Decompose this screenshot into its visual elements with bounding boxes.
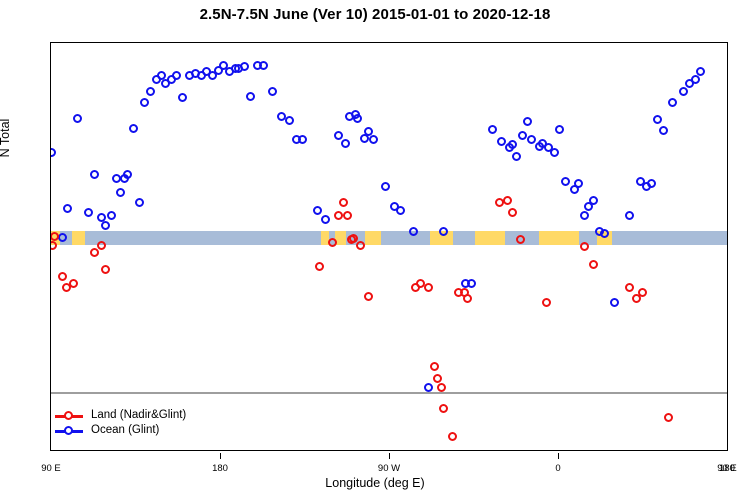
data-point-land xyxy=(430,362,439,371)
band-segment xyxy=(72,231,85,245)
data-point-land xyxy=(97,241,106,250)
data-point-ocean xyxy=(696,67,705,76)
band-segment xyxy=(453,231,476,245)
y-axis-label: N Total xyxy=(0,78,12,198)
x-tick-label: 90 E xyxy=(41,463,61,474)
data-point-land xyxy=(448,432,457,441)
chart-title: 2.5N-7.5N June (Ver 10) 2015-01-01 to 20… xyxy=(0,6,750,23)
data-point-land xyxy=(343,211,352,220)
data-point-ocean xyxy=(51,148,56,157)
data-point-ocean xyxy=(140,98,149,107)
reference-line xyxy=(51,392,727,394)
data-point-land xyxy=(315,262,324,271)
data-point-ocean xyxy=(691,75,700,84)
x-tick-label: 90 W xyxy=(378,463,400,474)
data-point-ocean xyxy=(512,152,521,161)
land-marker-icon xyxy=(55,415,83,418)
data-point-ocean xyxy=(659,126,668,135)
x-axis-label: Longitude (deg E) xyxy=(0,476,750,490)
band-segment xyxy=(365,231,382,245)
data-point-ocean xyxy=(610,298,619,307)
data-point-ocean xyxy=(550,148,559,157)
data-point-ocean xyxy=(488,125,497,134)
data-point-ocean xyxy=(409,227,418,236)
data-point-ocean xyxy=(129,124,138,133)
data-point-ocean xyxy=(63,204,72,213)
data-point-land xyxy=(101,265,110,274)
data-point-land xyxy=(424,283,433,292)
data-point-land xyxy=(69,279,78,288)
band-segment xyxy=(475,231,505,245)
plot-canvas xyxy=(51,43,727,450)
data-point-ocean xyxy=(424,383,433,392)
data-point-ocean xyxy=(73,114,82,123)
data-point-ocean xyxy=(523,117,532,126)
data-point-ocean xyxy=(600,229,609,238)
data-point-land xyxy=(439,404,448,413)
data-point-land xyxy=(580,242,589,251)
figure-container: 2.5N-7.5N June (Ver 10) 2015-01-01 to 20… xyxy=(0,0,750,500)
data-point-land xyxy=(339,198,348,207)
data-point-ocean xyxy=(341,139,350,148)
data-point-ocean xyxy=(679,87,688,96)
data-point-land xyxy=(433,374,442,383)
data-point-land xyxy=(625,283,634,292)
data-point-land xyxy=(364,292,373,301)
data-point-ocean xyxy=(381,182,390,191)
data-point-ocean xyxy=(146,87,155,96)
data-point-ocean xyxy=(668,98,677,107)
data-point-ocean xyxy=(123,170,132,179)
x-tick-label: 180 xyxy=(719,463,735,474)
data-point-land xyxy=(589,260,598,269)
data-point-ocean xyxy=(84,208,93,217)
x-tick-mark xyxy=(220,453,221,459)
data-point-land xyxy=(437,383,446,392)
ocean-marker-icon xyxy=(55,430,83,433)
data-point-ocean xyxy=(518,131,527,140)
data-point-land xyxy=(356,241,365,250)
data-point-ocean xyxy=(313,206,322,215)
data-point-ocean xyxy=(58,233,67,242)
data-point-ocean xyxy=(467,279,476,288)
x-tick-mark xyxy=(389,453,390,459)
data-point-ocean xyxy=(353,114,362,123)
data-point-ocean xyxy=(246,92,255,101)
data-point-land xyxy=(463,294,472,303)
data-point-ocean xyxy=(653,115,662,124)
data-point-ocean xyxy=(240,62,249,71)
data-point-land xyxy=(334,211,343,220)
data-point-ocean xyxy=(259,61,268,70)
data-point-ocean xyxy=(561,177,570,186)
data-point-ocean xyxy=(268,87,277,96)
band-segment xyxy=(612,231,727,245)
data-point-ocean xyxy=(574,179,583,188)
data-point-ocean xyxy=(589,196,598,205)
data-point-ocean xyxy=(285,116,294,125)
band-segment xyxy=(381,231,430,245)
data-point-ocean xyxy=(107,211,116,220)
data-point-land xyxy=(508,208,517,217)
x-tick-mark xyxy=(558,453,559,459)
legend-label-land: Land (Nadir&Glint) xyxy=(91,408,186,423)
band-segment xyxy=(539,231,578,245)
data-point-ocean xyxy=(101,221,110,230)
data-point-ocean xyxy=(369,135,378,144)
data-point-land xyxy=(542,298,551,307)
data-point-land xyxy=(503,196,512,205)
legend-label-ocean: Ocean (Glint) xyxy=(91,423,159,438)
data-point-ocean xyxy=(298,135,307,144)
data-point-land xyxy=(58,272,67,281)
data-point-ocean xyxy=(90,170,99,179)
data-point-land xyxy=(90,248,99,257)
data-point-ocean xyxy=(508,140,517,149)
data-point-land xyxy=(664,413,673,422)
data-point-ocean xyxy=(178,93,187,102)
x-tick-label: 0 xyxy=(555,463,560,474)
data-point-ocean xyxy=(396,206,405,215)
data-point-ocean xyxy=(172,71,181,80)
x-tick-label: 180 xyxy=(212,463,228,474)
plot-area: 20501002005001000200050001000020000 90 E… xyxy=(50,42,728,451)
data-point-land xyxy=(638,288,647,297)
data-point-ocean xyxy=(135,198,144,207)
data-point-ocean xyxy=(555,125,564,134)
data-point-ocean xyxy=(321,215,330,224)
data-point-ocean xyxy=(116,188,125,197)
data-point-land xyxy=(328,238,337,247)
data-point-ocean xyxy=(580,211,589,220)
data-point-ocean xyxy=(334,131,343,140)
data-point-ocean xyxy=(439,227,448,236)
data-point-ocean xyxy=(647,179,656,188)
data-point-ocean xyxy=(625,211,634,220)
band-segment xyxy=(85,231,322,245)
